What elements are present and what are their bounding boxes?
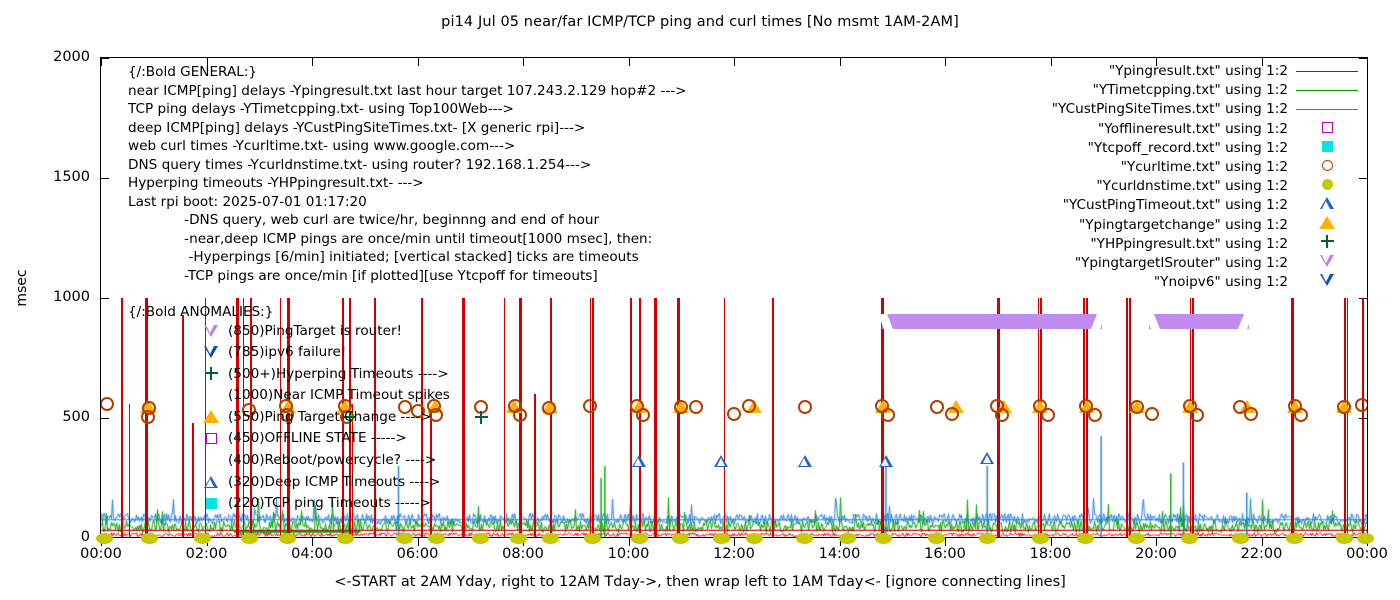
dns-query-time-marker [1181,533,1198,544]
legend-key [1288,273,1366,292]
anomaly-row: (400)Reboot/powercycle? ----> [128,451,450,473]
x-tick-label: 02:00 [162,546,252,562]
x-tick-label: 04:00 [267,546,357,562]
dns-query-time-marker [141,533,158,544]
x-tick-mark [629,538,630,546]
legend-item: "Ycurldnstime.txt" using 1:2 [1052,177,1366,196]
y-tick-label: 1500 [28,169,90,185]
x-tick-mark [1262,538,1263,546]
y-tick-label: 1000 [28,289,90,305]
anomaly-row: (500+)Hyperping Timeouts ----> [128,365,450,387]
anomaly-row: (220)TCP ping Timeouts -----> [128,494,450,516]
hyperping-timeout-plus-icon [1321,235,1334,248]
general-annotation-line: -near,deep ICMP pings are once/min until… [128,230,687,249]
y-axis-label: msec [14,258,30,318]
legend-label: "Ypingtargetchange" using 1:2 [1079,216,1288,235]
legend-item: "Yofflineresult.txt" using 1:2 [1052,120,1366,139]
legend-label: "Yofflineresult.txt" using 1:2 [1098,120,1288,139]
x-tick-mark [312,538,313,546]
dns-query-time-marker [510,533,527,544]
general-annotation-line: -Hyperpings [6/min] initiated; [vertical… [128,248,687,267]
anomaly-marker [194,345,228,364]
legend-label: "YCustPingSiteTimes.txt" using 1:2 [1052,100,1288,119]
legend-label: "YHPpingresult.txt" using 1:2 [1090,235,1288,254]
x-tick-label: 06:00 [373,546,463,562]
anomaly-marker [194,496,228,515]
general-annotation-line: -TCP pings are once/min [if plotted][use… [128,267,687,286]
legend-item: "Ypingtargetchange" using 1:2 [1052,216,1366,235]
anomaly-row: (850)PingTarget is router! [128,322,450,344]
general-annotation-line: Hyperping timeouts -YHPpingresult.txt- -… [128,174,687,193]
anomaly-marker [194,324,228,343]
y-tick-label: 500 [28,409,90,425]
x-tick-label: 16:00 [900,546,990,562]
x-tick-label: 18:00 [1006,546,1096,562]
dns-query-time-marker [1032,533,1049,544]
x-tick-label: 20:00 [1111,546,1201,562]
legend-label: "YCustPingTimeout.txt" using 1:2 [1063,196,1288,215]
dns-query-time-marker [928,533,945,544]
x-tick-label: 14:00 [795,546,885,562]
x-tick-mark [1156,538,1157,546]
anomalies-heading: {/:Bold ANOMALIES:} [128,303,450,322]
dns-query-time-marker [631,533,648,544]
ping-target-change-triangle-icon [1319,216,1335,229]
dns-query-time-marker [746,533,763,544]
dns-query-time-marker [839,533,856,544]
anomaly-label: (550)Ping Target Change ----> [228,409,432,425]
general-annotation-line: DNS query times -Ycurldnstime.txt- using… [128,156,687,175]
legend-item: "YCustPingSiteTimes.txt" using 1:2 [1052,100,1366,119]
anomaly-label: (400)Reboot/powercycle? ----> [228,452,436,468]
x-axis-caption: <-START at 2AM Yday, right to 12AM Tday-… [0,574,1400,590]
y-tick-label: 0 [28,529,90,545]
deep-icmp-timeout-triangle-icon [1320,197,1334,209]
dns-query-time-marker [979,533,996,544]
anomaly-marker [194,410,228,429]
anomaly-label: (1000)Near ICMP Timeout spikes [228,387,450,403]
dns-query-time-marker [542,533,559,544]
dns-query-time-marker [96,533,113,544]
target-is-router-triangle-icon [204,325,218,337]
anomaly-marker [194,367,228,386]
x-tick-mark [734,538,735,546]
anomaly-label: (785)ipv6 failure! [228,344,346,360]
curl-circle-icon [1322,160,1333,171]
legend-label: "Ytcpoff_record.txt" using 1:2 [1088,139,1288,158]
legend-item: "YHPpingresult.txt" using 1:2 [1052,235,1366,254]
general-annotation-line: deep ICMP[ping] delays -YCustPingSiteTim… [128,119,687,138]
legend-key [1288,177,1366,196]
anomaly-row: (450)OFFLINE STATE -----> [128,429,450,451]
dns-query-time-marker [337,533,354,544]
dns-query-time-marker [1128,533,1145,544]
legend: "Ypingresult.txt" using 1:2"YTimetcpping… [1052,62,1366,292]
legend-label: "Ycurltime.txt" using 1:2 [1121,158,1288,177]
no-ipv6-triangle-icon [204,346,218,358]
legend-item: "YTimetcpping.txt" using 1:2 [1052,81,1366,100]
tcp-timeout-square-icon [206,498,217,509]
legend-item: "YCustPingTimeout.txt" using 1:2 [1052,196,1366,215]
anomaly-row: (320)Deep ICMP Timeouts ----> [128,473,450,495]
dns-query-time-marker [472,533,489,544]
dns-circle-icon [1322,179,1333,190]
legend-item: "Ycurltime.txt" using 1:2 [1052,158,1366,177]
legend-label: "YTimetcpping.txt" using 1:2 [1093,81,1288,100]
legend-key [1288,216,1366,235]
offline-square-icon [206,433,217,444]
legend-key [1288,158,1366,177]
legend-key [1288,139,1366,158]
target-is-router-triangle-icon [1320,255,1334,267]
x-tick-label: 22:00 [1217,546,1307,562]
dns-query-time-marker [1077,533,1094,544]
x-tick-label: 00:00 [1322,546,1400,562]
x-tick-mark [1051,538,1052,546]
dns-query-time-marker [241,533,258,544]
general-annotation-line: {/:Bold GENERAL:} [128,63,687,82]
anomaly-label: (850)PingTarget is router! [228,323,402,339]
tcp-timeout-square-icon [1322,141,1333,152]
dns-query-time-marker [1232,533,1249,544]
x-tick-mark [945,538,946,546]
legend-line-swatch [1296,71,1358,72]
general-annotation-line: Last rpi boot: 2025-07-01 01:17:20 [128,193,687,212]
dns-query-time-marker [796,533,813,544]
legend-key [1288,196,1366,215]
anomaly-label: (320)Deep ICMP Timeouts ----> [228,474,440,490]
dns-query-time-marker [1286,533,1303,544]
legend-line-swatch [1296,90,1358,91]
ping-target-change-triangle-icon [203,410,219,423]
dns-query-time-marker [428,533,445,544]
legend-item: "Ynoipv6" using 1:2 [1052,273,1366,292]
legend-label: "Ycurldnstime.txt" using 1:2 [1096,177,1288,196]
legend-key [1288,254,1366,273]
general-annotation-block: {/:Bold GENERAL:}near ICMP[ping] delays … [128,63,687,285]
legend-label: "YpingtargetISrouter" using 1:2 [1075,254,1288,273]
chart-root: pi14 Jul 05 near/far ICMP/TCP ping and c… [0,0,1400,600]
general-annotation-line: near ICMP[ping] delays -Ypingresult.txt … [128,82,687,101]
general-annotation-line: web curl times -Ycurltime.txt- using www… [128,137,687,156]
general-annotation-line: TCP ping delays -YTimetcpping.txt- using… [128,100,687,119]
legend-item: "YpingtargetISrouter" using 1:2 [1052,254,1366,273]
y-tick-label: 2000 [28,49,90,65]
anomaly-label: (220)TCP ping Timeouts -----> [228,495,431,511]
hyperping-timeout-plus-icon [205,367,218,380]
anomaly-marker [194,431,228,450]
anomaly-marker [194,475,228,494]
anomaly-label: (450)OFFLINE STATE -----> [228,430,407,446]
anomaly-row: (550)Ping Target Change ----> [128,408,450,430]
legend-item: "Ypingresult.txt" using 1:2 [1052,62,1366,81]
anomaly-row: (1000)Near ICMP Timeout spikes [128,386,450,408]
deep-icmp-timeout-triangle-icon [204,476,218,488]
legend-line-swatch [1296,109,1358,110]
legend-key [1288,235,1366,254]
anomaly-label: (500+)Hyperping Timeouts ----> [228,366,449,382]
dns-query-time-marker [396,533,413,544]
dns-query-time-marker [584,533,601,544]
dns-query-time-marker [1336,533,1353,544]
general-annotation-line: -DNS query, web curl are twice/hr, begin… [128,211,687,230]
legend-key [1288,62,1366,81]
offline-square-icon [1322,122,1333,133]
legend-key [1288,81,1366,100]
legend-key [1288,100,1366,119]
chart-title: pi14 Jul 05 near/far ICMP/TCP ping and c… [0,14,1400,30]
legend-item: "Ytcpoff_record.txt" using 1:2 [1052,139,1366,158]
anomaly-row: (785)ipv6 failure! [128,343,450,365]
no-ipv6-triangle-icon [1320,274,1334,286]
dns-query-time-marker [194,533,211,544]
legend-label: "Ynoipv6" using 1:2 [1154,273,1288,292]
dns-query-time-marker [1357,533,1374,544]
legend-key [1288,120,1366,139]
legend-label: "Ypingresult.txt" using 1:2 [1109,62,1288,81]
dns-query-time-marker [713,533,730,544]
dns-query-time-marker [279,533,296,544]
dns-query-time-marker [672,533,689,544]
x-tick-label: 00:00 [56,546,146,562]
x-tick-label: 10:00 [584,546,674,562]
x-tick-label: 08:00 [478,546,568,562]
anomalies-annotation-block: {/:Bold ANOMALIES:}(850)PingTarget is ro… [128,303,450,516]
x-tick-label: 12:00 [689,546,779,562]
x-tick-mark [418,538,419,546]
dns-query-time-marker [875,533,892,544]
